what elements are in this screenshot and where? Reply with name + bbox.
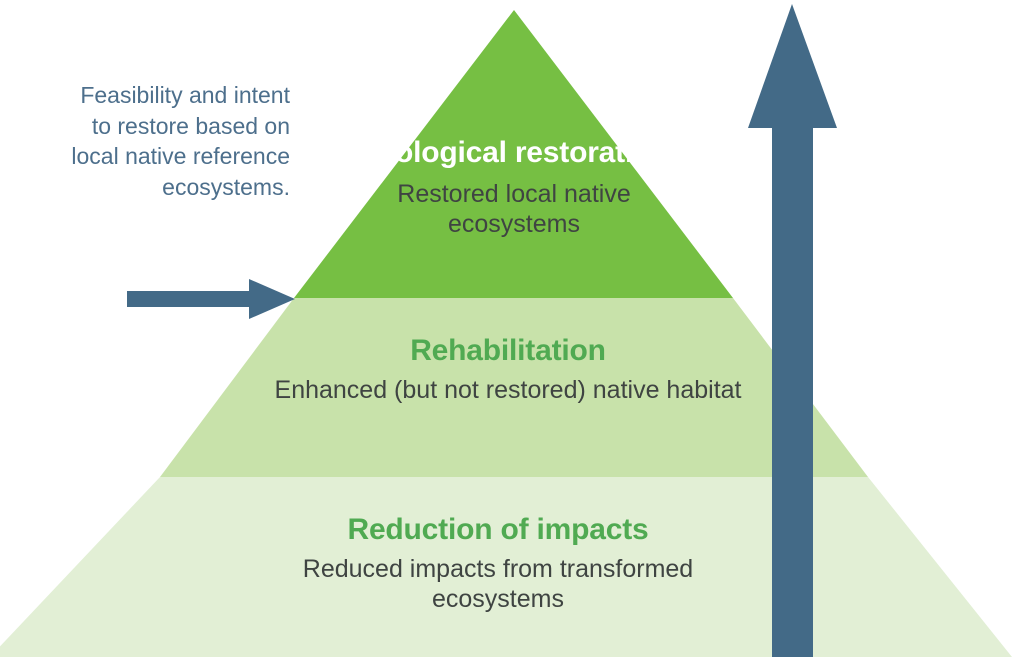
tier-label-rehabilitation: Rehabilitation Enhanced (but not restore… xyxy=(258,333,758,405)
increasing-similarity-arrow-label-wrap: Increasing similarity to reference ecosy… xyxy=(772,138,812,654)
tier-title-rehabilitation: Rehabilitation xyxy=(258,333,758,368)
feasibility-caption: Feasibility and intent to restore based … xyxy=(62,80,290,202)
diagram-canvas: Feasibility and intent to restore based … xyxy=(0,0,1024,669)
tier-title-reduction-of-impacts: Reduction of impacts xyxy=(238,512,758,547)
tier-subtitle-reduction-of-impacts: Reduced impacts from transformed ecosyst… xyxy=(238,554,758,614)
tier-subtitle-rehabilitation: Enhanced (but not restored) native habit… xyxy=(258,375,758,405)
tier-label-reduction-of-impacts: Reduction of impacts Reduced impacts fro… xyxy=(238,512,758,614)
entry-point-arrow xyxy=(127,279,295,319)
increasing-similarity-arrow-label: Increasing similarity to reference ecosy… xyxy=(984,172,1007,619)
tier-label-ecological-restoration: Ecological restoration Restored local na… xyxy=(344,136,684,239)
tier-subtitle-ecological-restoration: Restored local native ecosystems xyxy=(344,179,684,239)
tier-title-ecological-restoration: Ecological restoration xyxy=(344,136,684,171)
